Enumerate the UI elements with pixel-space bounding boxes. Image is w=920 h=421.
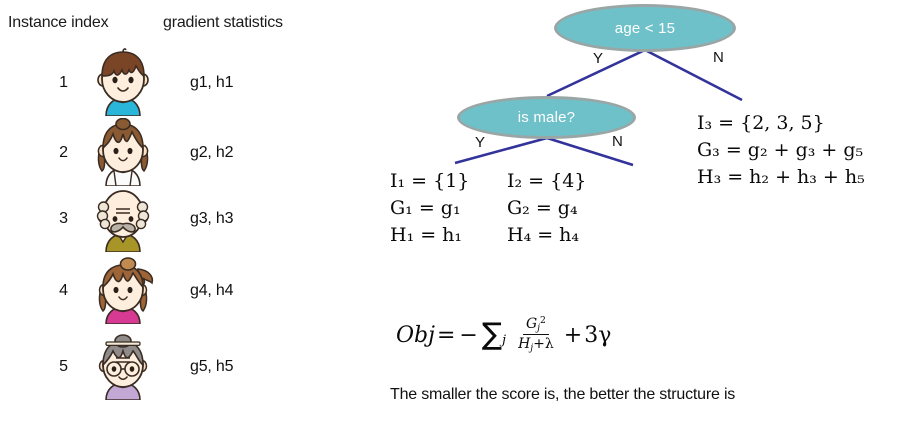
instance-index-value: 2 (42, 144, 68, 162)
decision-tree-panel: age < 15 is male? Y N Y N I₁ = {1} G₁ = … (340, 0, 920, 421)
objective-penalty: 3γ (584, 323, 611, 348)
table-row: 5 (0, 330, 340, 402)
leaf1-gradient-sum: G₁ = g₁ (390, 195, 469, 222)
leaf1-instances: I₁ = {1} (390, 168, 469, 195)
objective-fraction: Gj2 Hj+λ (515, 315, 557, 354)
summation-group: ∑ j (482, 322, 506, 348)
leaf3-instances: I₃ = {2, 3, 5} (697, 110, 865, 137)
table-row: 4 (0, 254, 340, 326)
leaf-stats-block-2: I₂ = {4} G₂ = g₄ H₄ = h₄ (507, 168, 586, 249)
table-row: 3 (0, 182, 340, 254)
gradient-statistics-value: g2, h2 (190, 144, 233, 162)
instance-index-value: 3 (42, 210, 68, 228)
leaf3-gradient-sum: G₃ = g₂ + g₃ + g₅ (697, 137, 865, 164)
gradient-statistics-value: g3, h3 (190, 210, 233, 228)
leaf2-gradient-sum: G₂ = g₄ (507, 195, 586, 222)
instance-table-panel: Instance index gradient statistics 1 (0, 0, 340, 421)
column-header-gradient-statistics: gradient statistics (163, 14, 283, 32)
leaf-stats-block-1: I₁ = {1} G₁ = g₁ H₁ = h₁ (390, 168, 469, 249)
objective-plus: + (562, 323, 584, 348)
objective-lhs: Obj (396, 323, 435, 348)
edge-label-root-yes: Y (593, 50, 603, 67)
ponytail-girl-avatar-icon (88, 256, 158, 324)
fraction-denominator: Hj+λ (515, 335, 557, 354)
grandma-avatar-icon (88, 332, 158, 400)
leaf2-instances: I₂ = {4} (507, 168, 586, 195)
tree-node-is-male[interactable]: is male? (457, 96, 636, 139)
edge-label-root-no: N (713, 49, 724, 66)
objective-equals: = (435, 323, 457, 348)
leaf2-hessian-sum: H₄ = h₄ (507, 222, 586, 249)
objective-formula: Obj = − ∑ j Gj2 Hj+λ + 3γ (396, 316, 611, 355)
column-header-instance-index: Instance index (8, 14, 108, 32)
instance-index-value: 1 (42, 74, 68, 92)
table-row: 1 g1, h1 (0, 46, 340, 118)
leaf3-hessian-sum: H₃ = h₂ + h₃ + h₅ (697, 164, 865, 191)
boy-avatar-icon (88, 48, 158, 116)
objective-minus: − (457, 323, 479, 348)
edge-label-ismale-yes: Y (475, 134, 485, 151)
gradient-statistics-value: g4, h4 (190, 282, 233, 300)
gradient-statistics-value: g5, h5 (190, 358, 233, 376)
instance-index-value: 5 (42, 358, 68, 376)
leaf1-hessian-sum: H₁ = h₁ (390, 222, 469, 249)
girl-avatar-icon (88, 118, 158, 186)
leaf-stats-block-3: I₃ = {2, 3, 5} G₃ = g₂ + g₃ + g₅ H₃ = h₂… (697, 110, 865, 191)
gradient-statistics-value: g1, h1 (190, 74, 233, 92)
sigma-icon: ∑ (482, 322, 502, 348)
table-row: 2 (0, 116, 340, 188)
grandpa-avatar-icon (88, 184, 158, 252)
caption-text: The smaller the score is, the better the… (390, 386, 735, 404)
tree-node-root[interactable]: age < 15 (554, 4, 736, 52)
edge-label-ismale-no: N (612, 133, 623, 150)
sigma-subscript: j (502, 333, 506, 348)
instance-index-value: 4 (42, 282, 68, 300)
fraction-numerator: Gj2 (523, 315, 549, 335)
